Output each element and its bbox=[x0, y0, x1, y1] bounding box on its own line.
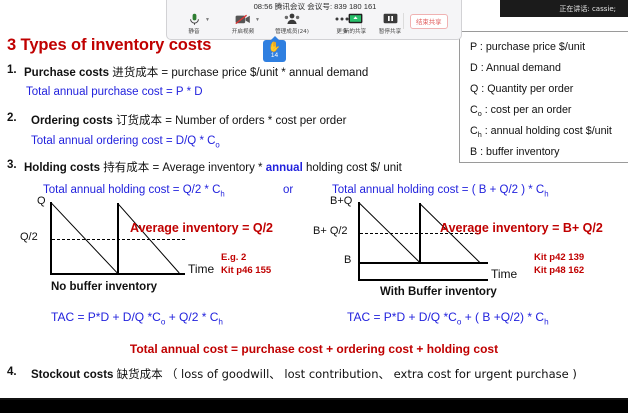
legend-row-p: P : purchase price $/unit bbox=[470, 41, 585, 53]
item-2-formula-sub: o bbox=[215, 140, 219, 149]
right-chart-y-base-label: B bbox=[344, 254, 351, 266]
left-chart-note-1: E.g. 2 bbox=[221, 252, 246, 263]
item-3-emphasis: annual bbox=[266, 162, 303, 174]
active-speaker-label: 正在讲话: cassie; bbox=[559, 4, 616, 14]
item-3-rest-a: = Average inventory * bbox=[152, 162, 265, 174]
meeting-toolbar[interactable]: 08:56 腾讯会议 会议号: 839 180 161 静音 ▼ bbox=[166, 0, 462, 40]
mute-chevron-down-icon[interactable]: ▼ bbox=[205, 17, 210, 23]
item-4-number: 4. bbox=[7, 366, 17, 378]
total-cost-summary: Total annual cost = purchase cost + orde… bbox=[0, 342, 628, 356]
toolbar-members-label: 管理成员(24) bbox=[269, 27, 315, 35]
item-3-rest-b: holding cost $/ unit bbox=[303, 162, 402, 174]
toolbar-pause-share-button[interactable]: 暂停共享 bbox=[367, 12, 413, 35]
left-chart-x-label: Time bbox=[188, 262, 214, 276]
reaction-badge[interactable]: ✋ 14 bbox=[263, 40, 286, 62]
left-chart-annotation: Average inventory = Q/2 bbox=[130, 221, 273, 235]
right-chart-cycle-marker bbox=[419, 203, 420, 262]
item-2-formula-text: Total annual ordering cost = D/Q * C bbox=[31, 135, 215, 147]
holding-formula-right: Total annual holding cost = ( B + Q/2 ) … bbox=[332, 184, 549, 198]
legend-row-ch: Ch : annual holding cost $/unit bbox=[470, 125, 612, 139]
item-3-number: 3. bbox=[7, 159, 17, 171]
left-chart-average-line bbox=[52, 239, 185, 240]
item-4-rest: （ loss of goodwill、 lost contribution、 e… bbox=[166, 367, 577, 381]
toolbar-mute-label: 静音 bbox=[171, 27, 217, 35]
left-chart-note-2: Kit p46 155 bbox=[221, 265, 271, 276]
reaction-count: 14 bbox=[271, 52, 278, 59]
pause-icon bbox=[367, 12, 413, 26]
item-2-cn: 订货成本 bbox=[116, 113, 162, 127]
legend-row-co: Co : cost per an order bbox=[470, 104, 571, 118]
tac-left-text: TAC = P*D + D/Q *C bbox=[51, 310, 161, 324]
item-1-number: 1. bbox=[7, 64, 17, 76]
bottom-black-strip bbox=[0, 400, 628, 413]
video-chevron-down-icon[interactable]: ▼ bbox=[255, 17, 260, 23]
legend-row-q: Q : Quantity per order bbox=[470, 83, 573, 95]
item-2-formula: Total annual ordering cost = D/Q * Co bbox=[31, 135, 220, 149]
people-icon bbox=[269, 12, 315, 26]
left-chart-y-top-label: Q bbox=[37, 195, 46, 207]
legend-ch-text: : annual holding cost $/unit bbox=[482, 125, 612, 137]
legend-co-symbol: C bbox=[470, 104, 478, 116]
tac-left-tail: + Q/2 * C bbox=[165, 310, 218, 324]
holding-formula-right-sub: h bbox=[544, 189, 548, 198]
left-chart-y-mid-label: Q/2 bbox=[20, 231, 38, 243]
right-chart-caption: With Buffer inventory bbox=[380, 286, 497, 298]
item-3-bold: Holding costs bbox=[24, 162, 100, 174]
right-chart-y-mid-label: B+ Q/2 bbox=[313, 225, 348, 237]
tac-left-sub2: h bbox=[218, 317, 223, 326]
end-share-button[interactable]: 结束共享 bbox=[410, 14, 448, 29]
item-3-cn: 持有成本 bbox=[103, 160, 149, 174]
legend-ch-symbol: C bbox=[470, 125, 478, 137]
right-chart-y-axis bbox=[358, 202, 360, 281]
toolbar-members-button[interactable]: 管理成员(24) bbox=[269, 12, 315, 35]
shared-screen-root: 3 Types of inventory costs 1. Purchase c… bbox=[0, 0, 628, 413]
item-2-bold: Ordering costs bbox=[31, 115, 113, 127]
presentation-slide: 3 Types of inventory costs 1. Purchase c… bbox=[0, 0, 628, 400]
item-2-number: 2. bbox=[7, 112, 17, 124]
item-3-text: Holding costs 持有成本 = Average inventory *… bbox=[24, 159, 402, 175]
legend-co-text: : cost per an order bbox=[482, 104, 572, 116]
right-chart-note-1: Kit p42 139 bbox=[534, 252, 584, 263]
item-4-text: Stockout costs 缺货成本 （ loss of goodwill、 … bbox=[31, 366, 577, 382]
holding-formula-left-sub: h bbox=[220, 189, 224, 198]
left-chart-x-axis bbox=[50, 273, 185, 275]
item-1-cn: 进货成本 bbox=[112, 65, 158, 79]
holding-formula-right-text: Total annual holding cost = ( B + Q/2 ) … bbox=[332, 184, 544, 196]
right-chart-buffer-line bbox=[360, 262, 488, 264]
microphone-icon bbox=[171, 12, 217, 26]
holding-formula-left-text: Total annual holding cost = Q/2 * C bbox=[43, 184, 220, 196]
tac-formula-right: TAC = P*D + D/Q *Co + ( B +Q/2) * Ch bbox=[347, 310, 549, 326]
toolbar-pause-share-label: 暂停共享 bbox=[367, 27, 413, 35]
holding-formula-left: Total annual holding cost = Q/2 * Ch bbox=[43, 184, 225, 198]
legend-row-d: D : Annual demand bbox=[470, 62, 561, 74]
right-chart-y-top-label: B+Q bbox=[330, 195, 352, 207]
meeting-info: 08:56 腾讯会议 会议号: 839 180 161 bbox=[167, 1, 463, 12]
item-1-bold: Purchase costs bbox=[24, 67, 109, 79]
tac-right-sub2: h bbox=[544, 317, 549, 326]
toolbar-video-button[interactable]: 开启视频 bbox=[220, 12, 266, 35]
raised-hand-icon: ✋ bbox=[268, 43, 280, 52]
or-label: or bbox=[283, 184, 293, 196]
item-1-formula: Total annual purchase cost = P * D bbox=[26, 86, 203, 98]
item-2-rest: = Number of orders * cost per order bbox=[165, 115, 346, 127]
item-1-rest: = purchase price $/unit * annual demand bbox=[161, 67, 368, 79]
slide-bottom-edge bbox=[0, 398, 628, 400]
right-chart-x-axis bbox=[358, 279, 488, 281]
toolbar-video-label: 开启视频 bbox=[220, 27, 266, 35]
right-chart-note-2: Kit p48 162 bbox=[534, 265, 584, 276]
item-4-cn: 缺货成本 bbox=[117, 367, 163, 381]
item-4-bold: Stockout costs bbox=[31, 369, 113, 381]
right-chart-x-label: Time bbox=[491, 267, 517, 281]
legend-row-b: B : buffer inventory bbox=[470, 146, 560, 158]
item-1-text: Purchase costs 进货成本 = purchase price $/u… bbox=[24, 64, 368, 80]
tac-right-tail: + ( B +Q/2) * C bbox=[461, 310, 544, 324]
left-chart-cycle-marker bbox=[117, 203, 118, 273]
tac-right-text: TAC = P*D + D/Q *C bbox=[347, 310, 457, 324]
tac-formula-left: TAC = P*D + D/Q *Co + Q/2 * Ch bbox=[51, 310, 223, 326]
active-speaker-bar: 正在讲话: cassie; bbox=[500, 0, 628, 17]
left-chart-caption: No buffer inventory bbox=[51, 281, 157, 293]
item-2-text: Ordering costs 订货成本 = Number of orders *… bbox=[31, 112, 346, 128]
legend-box: P : purchase price $/unit D : Annual dem… bbox=[459, 31, 628, 163]
right-chart-annotation: Average inventory = B+ Q/2 bbox=[440, 221, 603, 235]
toolbar-mute-button[interactable]: 静音 bbox=[171, 12, 217, 35]
chart-with-buffer: B+Q B+ Q/2 B Time With Buffer inventory bbox=[348, 198, 628, 288]
toolbar-divider-2 bbox=[403, 13, 404, 29]
